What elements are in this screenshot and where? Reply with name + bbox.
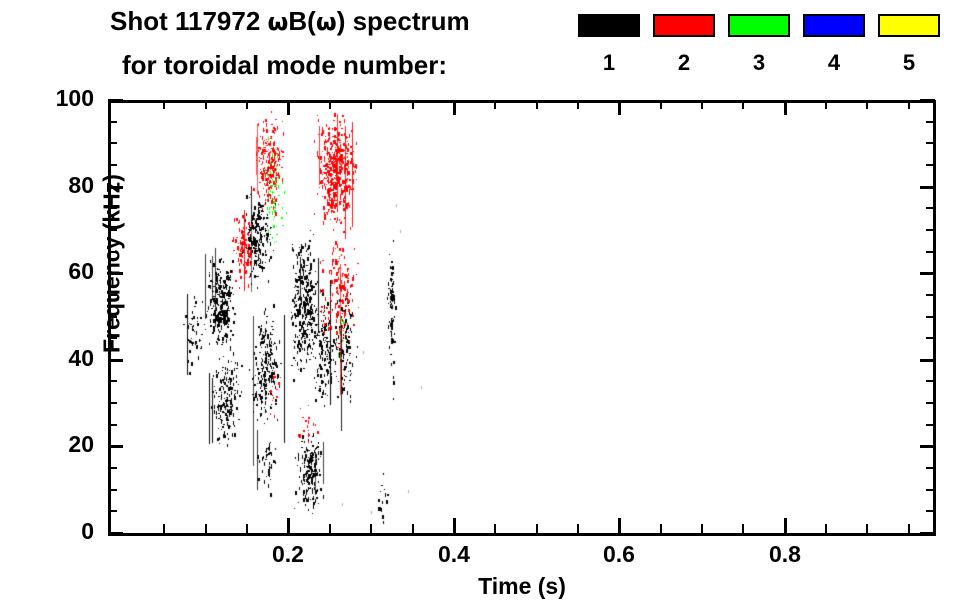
axis-spine-bottom bbox=[108, 533, 936, 536]
legend-swatch-4 bbox=[803, 14, 865, 37]
legend-label-1: 1 bbox=[578, 50, 640, 76]
title-text-post: ) spectrum bbox=[337, 6, 470, 36]
y-tick-label-80: 80 bbox=[4, 172, 94, 199]
legend-label-2: 2 bbox=[653, 50, 715, 76]
plot-data-area bbox=[111, 103, 933, 533]
omega-symbol-1: ω bbox=[268, 8, 289, 36]
legend-entry-2[interactable]: 2 bbox=[653, 14, 719, 76]
x-tick-label-0.8: 0.8 bbox=[745, 541, 825, 568]
x-axis-label: Time (s) bbox=[108, 573, 936, 600]
legend-label-5: 5 bbox=[878, 50, 940, 76]
spectrum-figure: Shot 117972 ωB(ω) spectrum for toroidal … bbox=[0, 0, 963, 615]
legend-entry-5[interactable]: 5 bbox=[878, 14, 944, 76]
x-tick-label-0.2: 0.2 bbox=[248, 541, 328, 568]
y-major-tick-right-100 bbox=[920, 99, 935, 102]
x-tick-label-0.6: 0.6 bbox=[579, 541, 659, 568]
omega-symbol-2: ω bbox=[316, 8, 337, 36]
legend-label-3: 3 bbox=[728, 50, 790, 76]
legend-swatch-2 bbox=[653, 14, 715, 37]
legend-label-4: 4 bbox=[803, 50, 865, 76]
y-tick-label-100: 100 bbox=[4, 85, 94, 112]
y-tick-label-20: 20 bbox=[4, 431, 94, 458]
y-major-tick-100 bbox=[108, 99, 123, 102]
legend-entry-1[interactable]: 1 bbox=[578, 14, 644, 76]
y-tick-label-60: 60 bbox=[4, 258, 94, 285]
scatter-canvas bbox=[111, 103, 933, 533]
legend: 12345 bbox=[578, 14, 958, 94]
legend-swatch-5 bbox=[878, 14, 940, 37]
y-tick-label-40: 40 bbox=[4, 345, 94, 372]
title-text-pre: Shot 117972 bbox=[110, 6, 268, 36]
legend-swatch-3 bbox=[728, 14, 790, 37]
figure-title-line-1: Shot 117972 ωB(ω) spectrum bbox=[110, 6, 470, 37]
legend-entry-4[interactable]: 4 bbox=[803, 14, 869, 76]
figure-title-line-2: for toroidal mode number: bbox=[122, 50, 447, 81]
y-tick-label-0: 0 bbox=[4, 518, 94, 545]
x-tick-label-0.4: 0.4 bbox=[414, 541, 494, 568]
legend-entry-3[interactable]: 3 bbox=[728, 14, 794, 76]
legend-swatch-1 bbox=[578, 14, 640, 37]
title-text-mid: B( bbox=[288, 6, 315, 36]
